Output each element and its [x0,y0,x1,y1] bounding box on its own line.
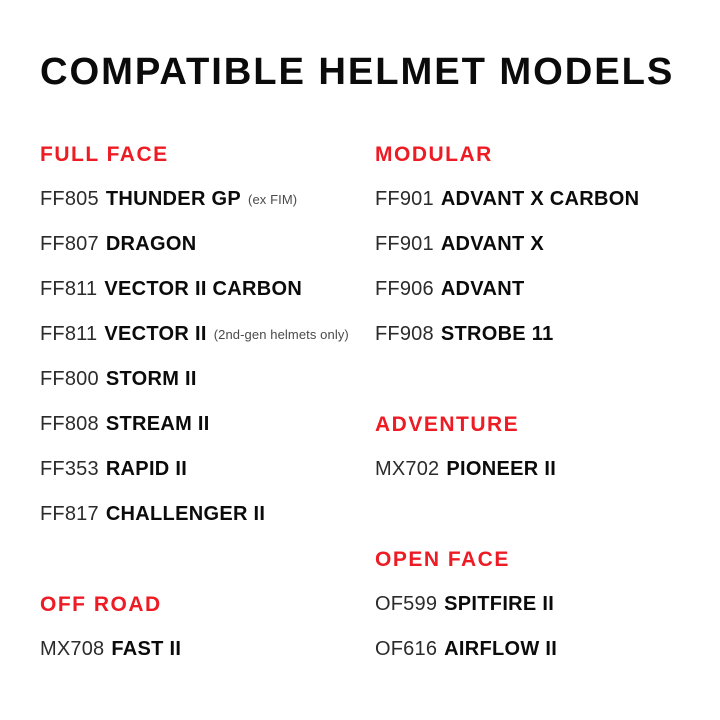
model-note: (ex FIM) [248,192,297,207]
model-code: FF800 [40,368,99,391]
model-code: FF817 [40,503,99,526]
section-heading-open-face: OPEN FACE [375,549,510,570]
section-heading-full-face: FULL FACE [40,144,169,165]
section-heading-modular: MODULAR [375,144,493,165]
model-row: OF599SPITFIRE II [375,582,705,627]
model-row: FF811VECTOR II CARBON [40,267,370,312]
model-name: THUNDER GP [106,188,241,211]
model-code: FF805 [40,188,99,211]
model-note: (2nd-gen helmets only) [214,327,349,342]
model-code: MX702 [375,458,439,481]
model-code: FF901 [375,188,434,211]
model-code: FF908 [375,323,434,346]
section-heading-off-road: OFF ROAD [40,594,162,615]
model-name: DRAGON [106,233,197,256]
model-name: AIRFLOW II [444,638,557,661]
model-code: FF811 [40,278,97,301]
model-name: ADVANT X [441,233,544,256]
model-name: CHALLENGER II [106,503,265,526]
model-name: VECTOR II [104,323,206,346]
model-row: FF353RAPID II [40,447,370,492]
model-row: FF901ADVANT X CARBON [375,177,705,222]
model-name: STREAM II [106,413,210,436]
model-row: FF805THUNDER GP(ex FIM) [40,177,370,222]
model-row: FF901ADVANT X [375,222,705,267]
section-header-row: OPEN FACE [375,537,705,582]
model-name: SPITFIRE II [444,593,554,616]
column-left: FULL FACEFF805THUNDER GP(ex FIM)FF807DRA… [40,132,370,672]
section-spacer [40,537,370,582]
column-right: MODULARFF901ADVANT X CARBONFF901ADVANT X… [375,132,705,672]
page-title: COMPATIBLE HELMET MODELS [40,53,703,91]
model-row: MX708FAST II [40,627,370,672]
model-name: STORM II [106,368,197,391]
section-header-row: OFF ROAD [40,582,370,627]
model-row: FF808STREAM II [40,402,370,447]
model-name: PIONEER II [446,458,556,481]
model-code: FF906 [375,278,434,301]
model-row: FF807DRAGON [40,222,370,267]
model-code: FF901 [375,233,434,256]
model-row: OF616AIRFLOW II [375,627,705,672]
model-row: FF811VECTOR II(2nd-gen helmets only) [40,312,370,357]
section-spacer [375,357,705,402]
model-name: STROBE 11 [441,323,554,346]
model-code: FF811 [40,323,97,346]
model-code: FF808 [40,413,99,436]
model-name: RAPID II [106,458,187,481]
model-code: MX708 [40,638,104,661]
model-row: FF800STORM II [40,357,370,402]
section-heading-adventure: ADVENTURE [375,414,519,435]
model-row: FF908STROBE 11 [375,312,705,357]
model-code: FF807 [40,233,99,256]
helmet-compatibility-poster: COMPATIBLE HELMET MODELS FULL FACEFF805T… [0,0,720,720]
model-row: FF906ADVANT [375,267,705,312]
model-code: FF353 [40,458,99,481]
model-name: FAST II [111,638,181,661]
model-row: MX702PIONEER II [375,447,705,492]
model-code: OF599 [375,593,437,616]
model-name: ADVANT X CARBON [441,188,640,211]
model-name: ADVANT [441,278,525,301]
section-spacer [375,492,705,537]
section-header-row: FULL FACE [40,132,370,177]
section-header-row: MODULAR [375,132,705,177]
model-name: VECTOR II CARBON [104,278,302,301]
section-header-row: ADVENTURE [375,402,705,447]
model-code: OF616 [375,638,437,661]
model-row: FF817CHALLENGER II [40,492,370,537]
